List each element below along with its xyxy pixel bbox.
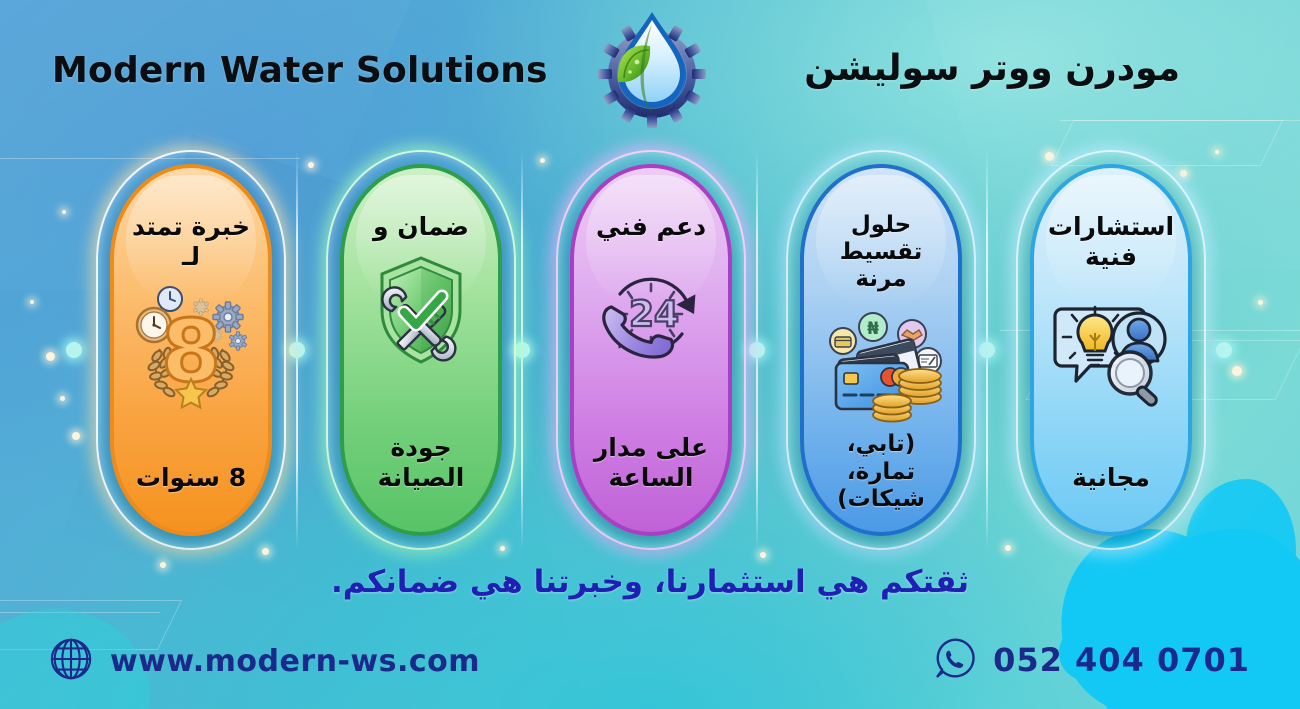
badge-number: 24 <box>629 294 679 335</box>
svg-text:₦: ₦ <box>867 319 879 339</box>
credit-cards-coins-payment-icon: ₦ <box>816 299 946 431</box>
phone-number: 052 404 0701 <box>993 641 1250 679</box>
lightbulb-speech-person-magnifier-icon <box>1046 277 1176 409</box>
feature-card-installments[interactable]: حلول تقسيط مرنة <box>786 150 976 550</box>
card-bottom-label: على مدار الساعة <box>574 433 728 492</box>
feature-card-support[interactable]: دعم فني <box>556 150 746 550</box>
particle-dot <box>760 552 766 558</box>
page-title-arabic: مودرن ووتر سوليشن <box>760 48 1180 89</box>
feature-card-row: خبرة تمتد لـ <box>0 150 1300 550</box>
tagline: ثقتكم هي استثمارنا، وخبرتنا هي ضمانكم. <box>0 564 1300 600</box>
card-top-label: استشارات فنية <box>1034 212 1188 271</box>
header: Modern Water Solutions مودرن ووتر سوليشن <box>0 0 1300 140</box>
connector-node <box>514 342 530 358</box>
phone-contact[interactable]: 052 404 0701 <box>933 636 1250 684</box>
eight-years-laurel-clock-gears-icon: 8 <box>126 277 256 409</box>
card-body: استشارات فنية <box>1030 164 1192 536</box>
connector-node <box>66 342 82 358</box>
page-title-english: Modern Water Solutions <box>52 50 552 91</box>
card-bottom-label: جودة الصيانة <box>344 433 498 492</box>
feature-card-warranty[interactable]: ضمان و <box>326 150 516 550</box>
connector-node <box>1216 342 1232 358</box>
shield-check-wrench-screwdriver-icon <box>356 248 486 380</box>
infographic-stage: Modern Water Solutions مودرن ووتر سوليشن <box>0 0 1300 709</box>
water-drop-leaf-gear-logo <box>592 6 712 131</box>
website-link[interactable]: www.modern-ws.com <box>48 636 480 686</box>
card-top-label: حلول تقسيط مرنة <box>804 212 958 293</box>
card-body: دعم فني <box>570 164 732 536</box>
card-bottom-label: (تابي، تمارة، شيكات) <box>804 431 958 512</box>
feature-card-experience[interactable]: خبرة تمتد لـ <box>96 150 286 550</box>
bg-tech-line <box>0 612 160 613</box>
phone-24-hours-support-icon: 24 <box>586 248 716 380</box>
connector-node <box>749 342 765 358</box>
card-top-label: ضمان و <box>344 212 498 242</box>
card-body: حلول تقسيط مرنة <box>800 164 962 536</box>
card-body: ضمان و <box>340 164 502 536</box>
card-body: خبرة تمتد لـ <box>110 164 272 536</box>
connector-node <box>289 342 305 358</box>
card-top-label: خبرة تمتد لـ <box>114 212 268 271</box>
feature-card-consultation[interactable]: استشارات فنية <box>1016 150 1206 550</box>
website-url: www.modern-ws.com <box>110 644 480 679</box>
card-bottom-label: مجانية <box>1034 463 1188 493</box>
whatsapp-icon <box>933 636 977 684</box>
globe-icon <box>48 636 94 686</box>
connector-node <box>979 342 995 358</box>
card-bottom-label: 8 سنوات <box>114 463 268 493</box>
card-top-label: دعم فني <box>574 212 728 242</box>
